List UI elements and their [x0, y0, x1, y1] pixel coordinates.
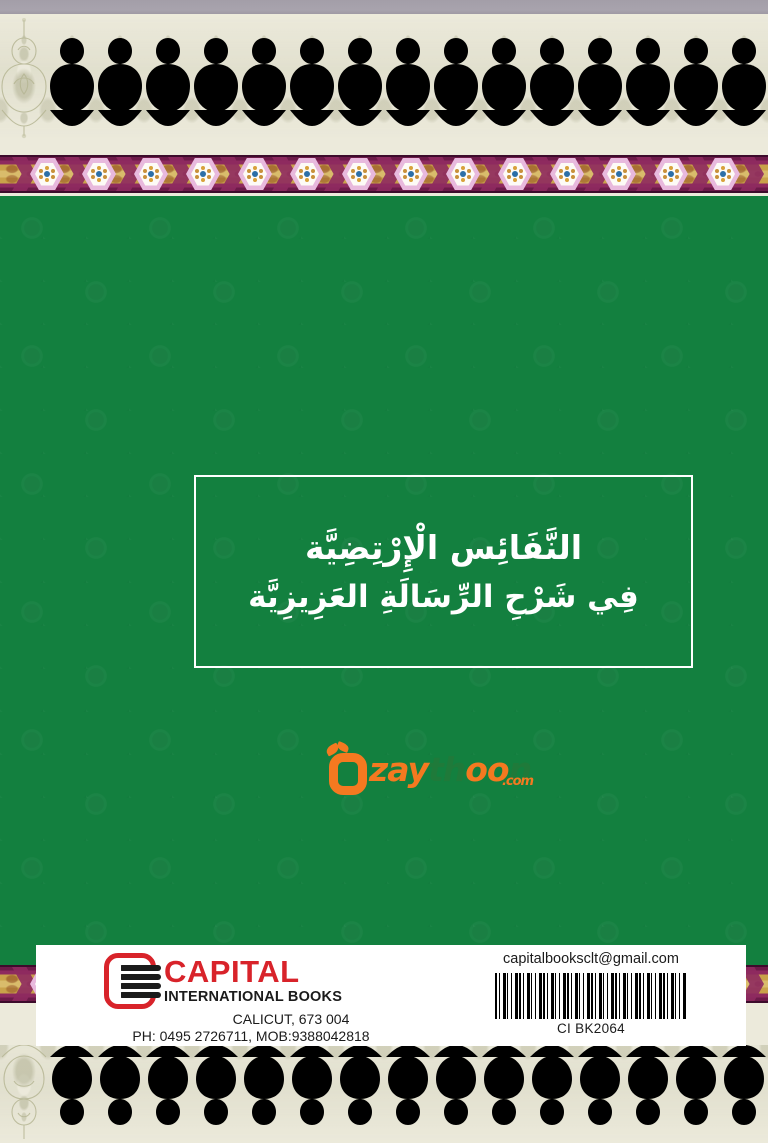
barcode-image	[495, 973, 687, 1019]
book-title-line-1: النَّفَائِس الْإِرْتِضِيَّة	[305, 522, 582, 573]
zaythoon-y: y	[407, 750, 428, 789]
stacked-books-icon	[121, 965, 163, 998]
barcode-area: capitalbooksclt@gmail.com CI BK2064	[436, 945, 746, 1046]
zaythoon-th: th	[428, 750, 465, 789]
publisher-info: CAPITAL INTERNATIONAL BOOKS CALICUT, 673…	[36, 945, 436, 1046]
capital-wordmark: CAPITAL INTERNATIONAL BOOKS	[164, 956, 342, 1006]
capital-logo: CAPITAL INTERNATIONAL BOOKS	[104, 953, 342, 1009]
decorative-border-top	[0, 155, 768, 193]
barcode-label: CI BK2064	[557, 1021, 625, 1036]
zaythoon-za: za	[369, 750, 407, 789]
publisher-name: CAPITAL	[164, 956, 342, 987]
olive-icon	[325, 743, 373, 795]
damask-pattern-bottom	[0, 1045, 768, 1143]
publisher-city: CALICUT, 673 004	[146, 1011, 436, 1027]
publisher-phone: PH: 0495 2726711, MOB:9388042818	[66, 1028, 436, 1044]
leaf-right-icon	[336, 741, 350, 753]
olive-oval-icon	[329, 753, 367, 795]
title-frame: النَّفَائِس الْإِرْتِضِيَّة فِي شَرْحِ ا…	[194, 475, 693, 668]
zaythoon-wordmark: zaythoon .com	[369, 753, 531, 786]
zaythoon-logo: zaythoon .com	[325, 738, 485, 800]
zaythoon-dotcom: .com	[502, 775, 533, 788]
book-title-line-2: فِي شَرْحِ الرِّسَالَةِ العَزِيزِيَّة	[248, 573, 639, 621]
top-grey-strip	[0, 0, 768, 14]
publisher-panel: CAPITAL INTERNATIONAL BOOKS CALICUT, 673…	[36, 945, 746, 1046]
publisher-email: capitalbooksclt@gmail.com	[503, 951, 679, 967]
ornate-hex-row	[0, 157, 768, 191]
damask-pattern-top	[0, 14, 768, 139]
publisher-tagline: INTERNATIONAL BOOKS	[164, 989, 342, 1006]
capital-books-icon	[104, 953, 158, 1009]
book-back-cover: النَّفَائِس الْإِرْتِضِيَّة فِي شَرْحِ ا…	[0, 0, 768, 1143]
